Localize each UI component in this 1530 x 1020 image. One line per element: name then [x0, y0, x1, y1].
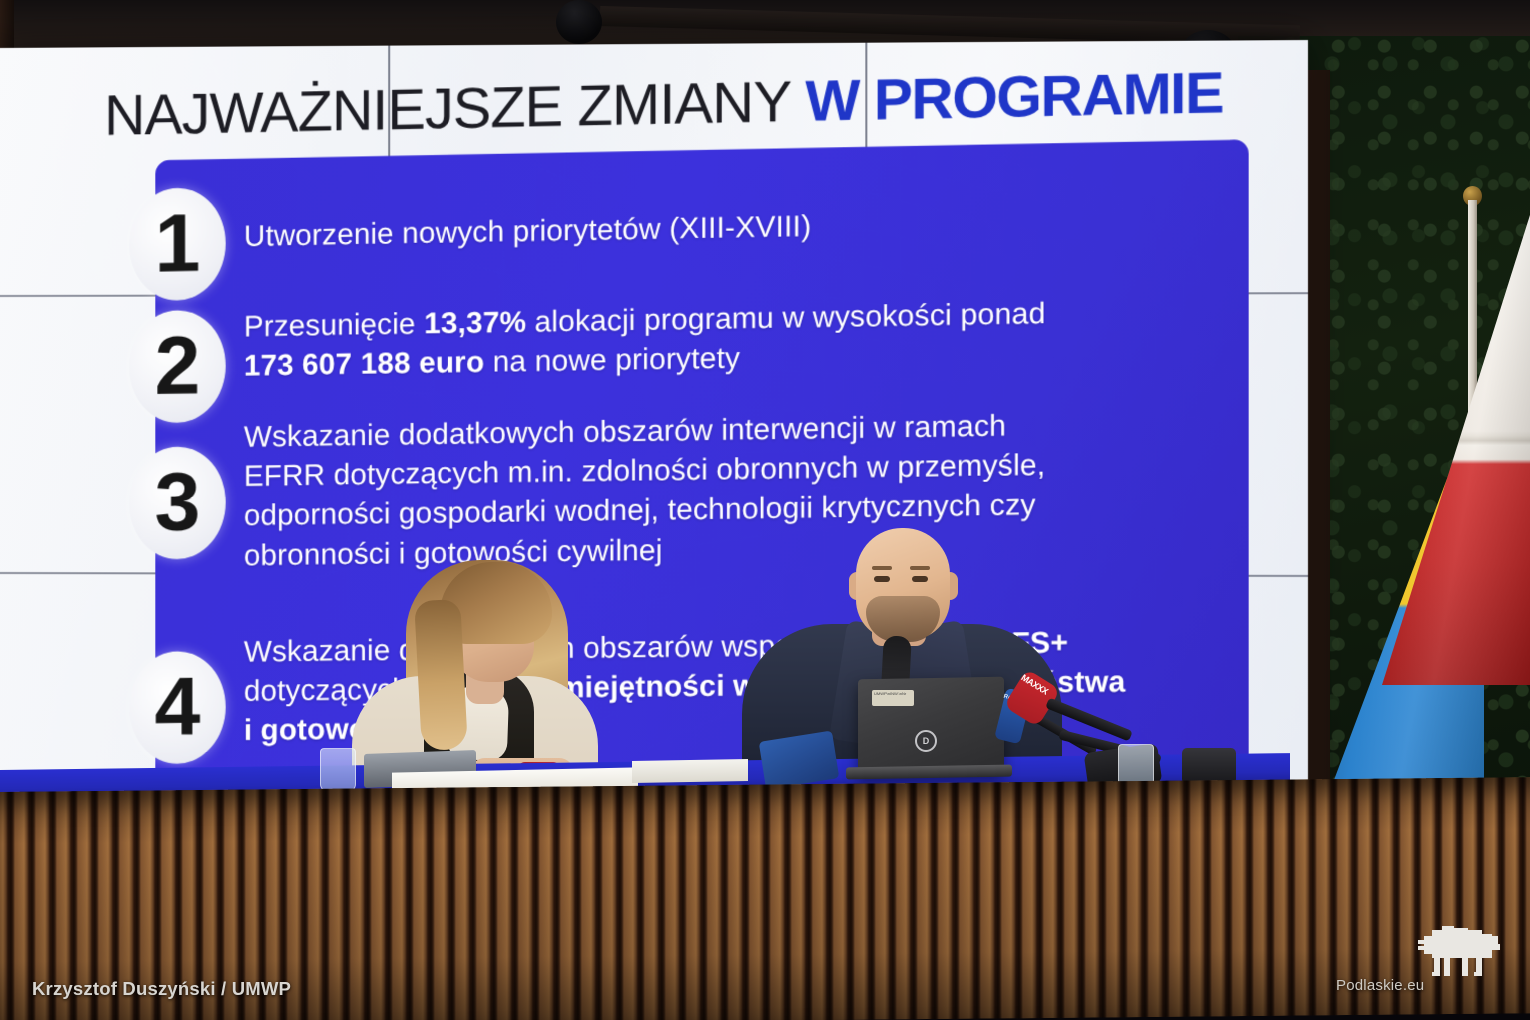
bullet-number-badge: 4 — [129, 651, 225, 764]
bullet-text: Przesunięcie 13,37% alokacji programu w … — [244, 291, 1226, 386]
video-wall-display: NAJWAŻNIEJSZE ZMIANY W PROGRAMIE 1Utworz… — [0, 40, 1308, 822]
bullet-line: Utworzenie nowych priorytetów (XIII-XVII… — [244, 199, 1226, 256]
screenshot-root: NAJWAŻNIEJSZE ZMIANY W PROGRAMIE 1Utworz… — [0, 0, 1530, 1020]
microphone-receiver-box — [1182, 748, 1236, 784]
bison-logo-icon — [1414, 918, 1506, 984]
dell-logo-icon: D — [915, 730, 937, 752]
photo-credit: Krzysztof Duszyński / UMWP — [32, 978, 291, 1000]
bullet-text-normal: Przesunięcie — [244, 307, 424, 343]
bullet-text-normal: alokacji programu w wysokości ponad — [526, 297, 1045, 339]
man-eye-right — [912, 576, 928, 582]
slide-title-plain: NAJWAŻNIEJSZE ZMIANY — [104, 69, 805, 148]
bullet-text-normal: Utworzenie nowych priorytetów (XIII-XVII… — [244, 210, 811, 253]
bullet-text-normal: odporności gospodarki wodnej, technologi… — [244, 489, 1036, 533]
bullet-text-normal: na nowe priorytety — [484, 342, 740, 379]
man-eyebrow-left — [872, 566, 892, 570]
slide-title-accent: W PROGRAMIE — [805, 60, 1223, 134]
woman-hair-side — [414, 599, 468, 751]
man-eye-left — [874, 576, 890, 582]
watermark: Podlaskie.eu — [1336, 918, 1506, 1004]
bullet-number-badge: 1 — [129, 187, 225, 301]
bullet-text-bold: 173 607 188 euro — [244, 346, 484, 383]
desk-nameplate — [632, 759, 748, 783]
bullet-number-badge: 2 — [129, 310, 225, 424]
watermark-text: Podlaskie.eu — [1336, 977, 1424, 994]
bullet-number-badge: 3 — [129, 446, 225, 560]
ceiling-lamp-icon — [556, 0, 602, 44]
man-beard — [866, 596, 940, 642]
bullet-text: Wskazanie dodatkowych obszarów interwenc… — [244, 403, 1226, 575]
bullet-text: Utworzenie nowych priorytetów (XIII-XVII… — [244, 199, 1226, 256]
water-glass — [320, 748, 356, 792]
slide-title: NAJWAŻNIEJSZE ZMIANY W PROGRAMIE — [104, 59, 1223, 149]
bullet-text-bold: 13,37% — [424, 306, 526, 341]
man-eyebrow-right — [910, 566, 930, 570]
laptop-inventory-label: UMWP\nINW.\nNr — [872, 690, 914, 706]
